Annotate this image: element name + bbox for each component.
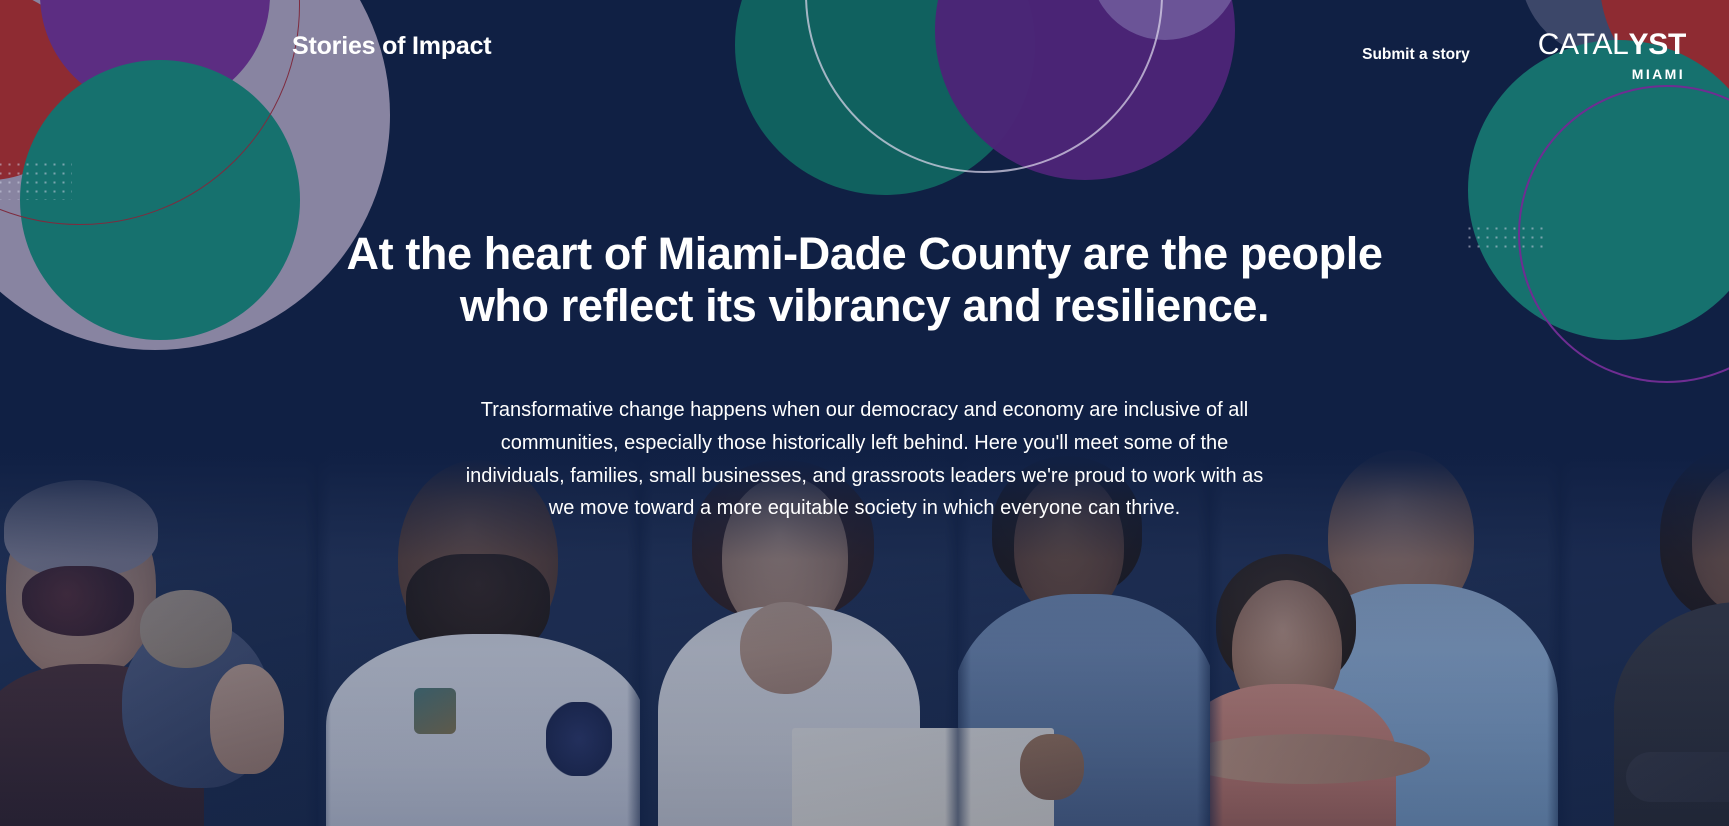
page-root: Stories of Impact Submit a story CATALYS… (0, 0, 1729, 826)
hero-section: At the heart of Miami-Dade County are th… (0, 228, 1729, 525)
catalyst-miami-logo[interactable]: CATALYST MIAMI (1538, 28, 1686, 81)
logo-wordmark-bold: YST (1629, 28, 1686, 61)
logo-wordmark-light: CATAL (1538, 28, 1629, 61)
hero-subcopy: Transformative change happens when our d… (465, 394, 1265, 524)
header-nav: Submit a story CATALYST MIAMI (1360, 28, 1686, 81)
top-left-dot-grid (0, 160, 72, 200)
hero-headline: At the heart of Miami-Dade County are th… (335, 228, 1395, 332)
logo-wordmark: CATALYST (1538, 30, 1686, 60)
page-title: Stories of Impact (292, 32, 491, 61)
logo-subtitle: MIAMI (1632, 67, 1685, 81)
site-header: Stories of Impact Submit a story CATALYS… (0, 0, 1729, 98)
submit-a-story-link[interactable]: Submit a story (1360, 40, 1472, 70)
